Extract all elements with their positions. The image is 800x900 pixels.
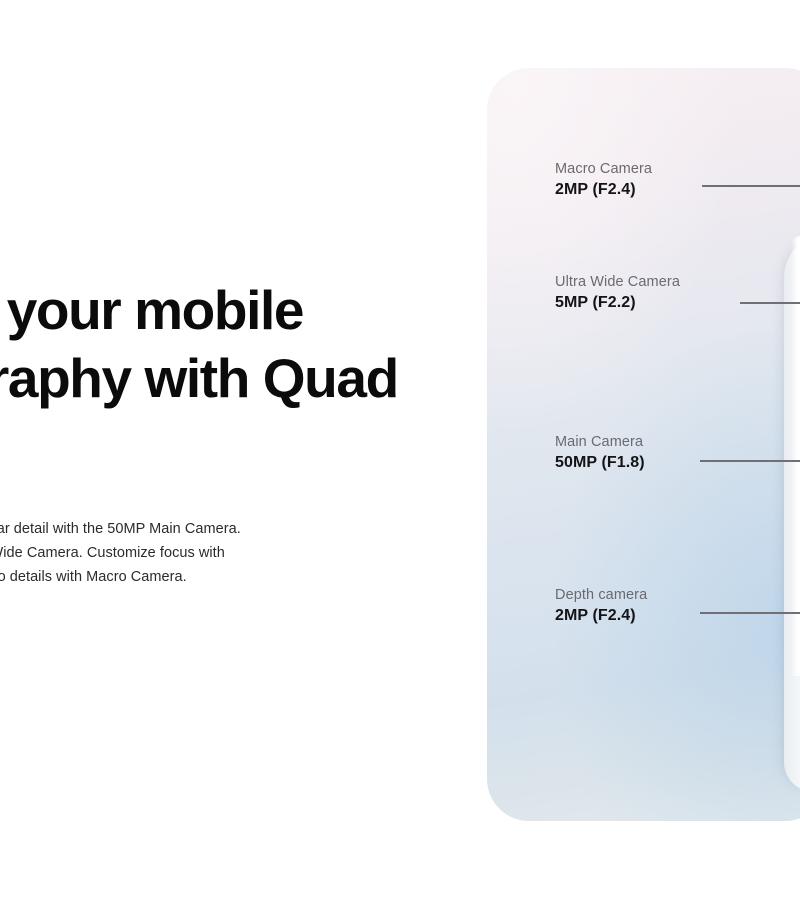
body-line-1: Capture every moment in clear detail wit… (0, 517, 410, 541)
callout-name-main-camera: Main Camera (555, 433, 785, 452)
callout-spec-main-camera: 50MP (F1.8) (555, 452, 785, 473)
callout-spec-macro-camera: 2MP (F2.4) (555, 179, 785, 200)
callout-main-camera: Main Camera 50MP (F1.8) (555, 433, 785, 473)
headline-line-1: Elevate your mobile (0, 276, 410, 344)
callout-macro-camera: Macro Camera 2MP (F2.4) (555, 160, 785, 200)
callout-ultra-wide-camera: Ultra Wide Camera 5MP (F2.2) (555, 273, 785, 313)
phone-device-image (784, 232, 800, 792)
headline-line-2: photography with Quad (0, 344, 410, 412)
body-paragraph: Capture every moment in clear detail wit… (0, 517, 410, 589)
product-feature-banner: Elevate your mobile photography with Qua… (0, 0, 800, 900)
marketing-copy-block: Elevate your mobile photography with Qua… (0, 276, 410, 412)
callout-spec-ultra-wide-camera: 5MP (F2.2) (555, 292, 785, 313)
callout-depth-camera: Depth camera 2MP (F2.4) (555, 586, 785, 626)
body-line-3: Depth Camera or get closer to details wi… (0, 565, 410, 589)
callout-name-ultra-wide-camera: Ultra Wide Camera (555, 273, 785, 292)
callout-name-depth-camera: Depth camera (555, 586, 785, 605)
callout-spec-depth-camera: 2MP (F2.4) (555, 605, 785, 626)
callout-name-macro-camera: Macro Camera (555, 160, 785, 179)
page-title: Elevate your mobile photography with Qua… (0, 276, 410, 412)
body-line-2: Fit more in frame with Ultra Wide Camera… (0, 541, 410, 565)
